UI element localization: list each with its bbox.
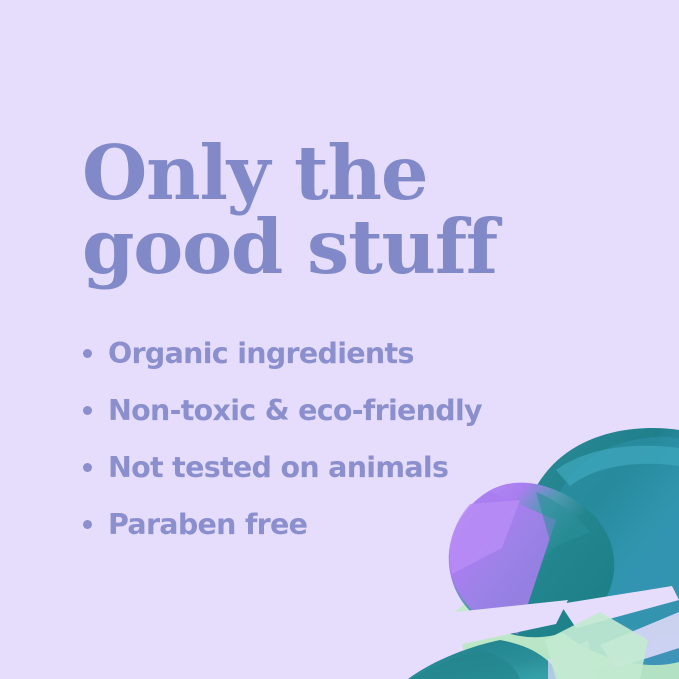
list-item: Paraben free (80, 496, 600, 553)
headline-line-1: Only the (82, 136, 602, 210)
list-item-label: Organic ingredients (108, 337, 414, 370)
list-item-label: Not tested on animals (108, 451, 448, 484)
list-item-label: Non-toxic & eco-friendly (108, 394, 482, 427)
list-item: Organic ingredients (80, 325, 600, 382)
bullet-dot-icon (83, 349, 92, 358)
headline: Only the good stuff (82, 136, 602, 285)
list-item-label: Paraben free (108, 508, 307, 541)
bullet-dot-icon (83, 406, 92, 415)
headline-line-2: good stuff (82, 210, 602, 284)
feature-list: Organic ingredients Non-toxic & eco-frie… (80, 325, 600, 553)
list-item: Not tested on animals (80, 439, 600, 496)
petal-bottom-left (408, 640, 560, 679)
promo-card: Only the good stuff Organic ingredients … (0, 0, 679, 679)
bullet-dot-icon (83, 463, 92, 472)
flower-center-leaf (545, 612, 648, 679)
petal-gaps (444, 586, 679, 679)
list-item: Non-toxic & eco-friendly (80, 382, 600, 439)
bullet-dot-icon (83, 520, 92, 529)
